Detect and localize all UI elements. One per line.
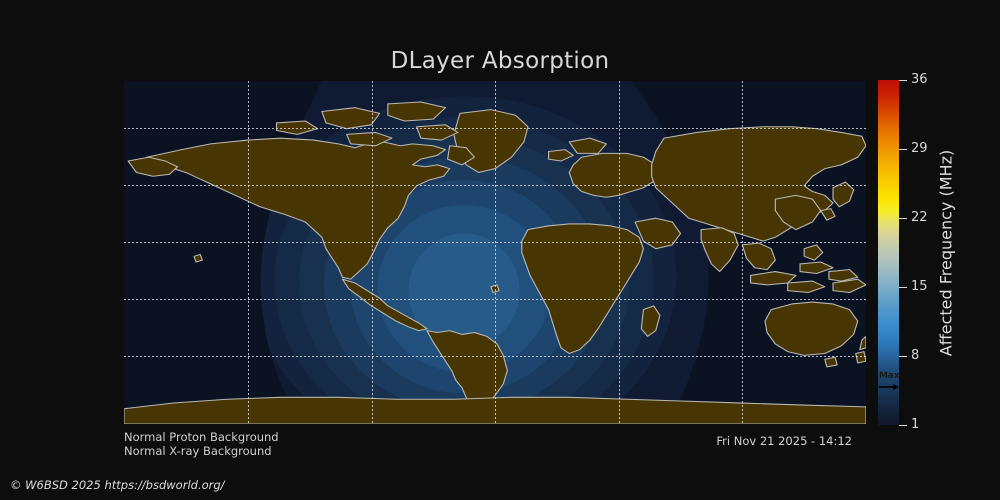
colorbar-tick-36 <box>899 80 907 81</box>
colorbar-tick-29 <box>899 149 907 150</box>
dlayer-absorption-plot: DLayer Absorption <box>0 0 1000 500</box>
colorbar-tick-label-15: 15 <box>911 280 928 293</box>
colorbar-tick-1 <box>899 425 907 426</box>
colorbar-gradient <box>878 80 899 425</box>
world-map[interactable] <box>124 81 866 424</box>
colorbar-tick-label-8: 8 <box>911 349 919 362</box>
timestamp: Fri Nov 21 2025 - 14:12 <box>0 434 852 448</box>
colorbar-tick-8 <box>899 356 907 357</box>
colorbar-tick-label-36: 36 <box>911 73 928 86</box>
colorbar-tick-label-22: 22 <box>911 211 928 224</box>
map-canvas <box>124 81 866 424</box>
colorbar[interactable]: Max 36 29 22 15 8 1 <box>878 80 899 425</box>
colorbar-tick-label-29: 29 <box>911 142 928 155</box>
colorbar-tick-15 <box>899 287 907 288</box>
colorbar-axis-label: Affected Frequency (MHz) <box>937 149 956 355</box>
colorbar-tick-label-1: 1 <box>911 418 919 431</box>
colorbar-tick-22 <box>899 218 907 219</box>
page-title: DLayer Absorption <box>0 47 1000 75</box>
copyright-notice[interactable]: © W6BSD 2025 https://bsdworld.org/ <box>10 478 225 492</box>
colorbar-axis-label-wrap: Affected Frequency (MHz) <box>935 80 957 425</box>
